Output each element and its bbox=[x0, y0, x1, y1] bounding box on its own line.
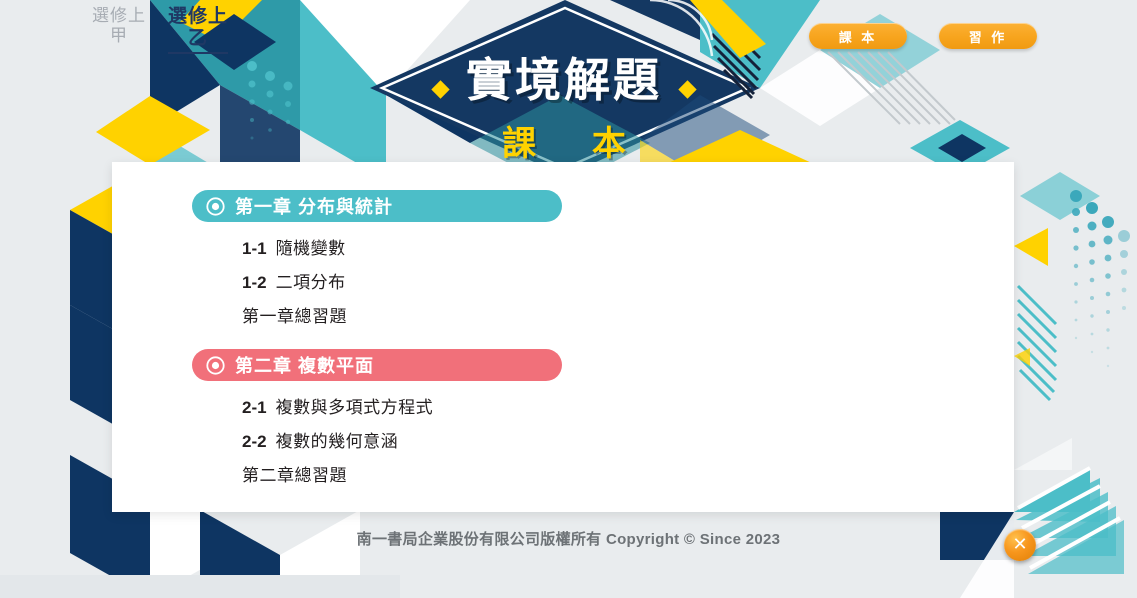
bullseye-icon bbox=[206, 197, 225, 216]
workbook-button[interactable]: 習 作 bbox=[939, 23, 1037, 49]
section-1-2[interactable]: 1-2 二項分布 bbox=[242, 268, 1014, 293]
banner: 實境解題 課 本 bbox=[376, 0, 752, 176]
textbook-button[interactable]: 課 本 bbox=[809, 23, 907, 49]
chapter-1: 第一章 分布與統計 1-1 隨機變數 1-2 二項分布 第一章總習題 bbox=[192, 190, 1014, 327]
table-of-contents: 第一章 分布與統計 1-1 隨機變數 1-2 二項分布 第一章總習題 bbox=[112, 162, 1014, 486]
top-right-button-group: 課 本 習 作 bbox=[809, 23, 1037, 49]
chapter-1-review[interactable]: 第一章總習題 bbox=[242, 302, 1014, 327]
section-1-1-number: 1-1 bbox=[242, 239, 267, 259]
chapter-2: 第二章 複數平面 2-1 複數與多項式方程式 2-2 複數的幾何意涵 第二章總習… bbox=[192, 349, 1014, 486]
chapter-1-header[interactable]: 第一章 分布與統計 bbox=[192, 190, 562, 222]
ground-strip bbox=[0, 575, 400, 598]
chapter-2-review[interactable]: 第二章總習題 bbox=[242, 461, 1014, 486]
tab-xuanxiu-shang-jia[interactable]: 選修上 甲 bbox=[92, 6, 146, 45]
section-2-2-number: 2-2 bbox=[242, 432, 267, 452]
section-2-1-number: 2-1 bbox=[242, 398, 267, 418]
chapter-2-header[interactable]: 第二章 複數平面 bbox=[192, 349, 562, 381]
section-2-1-label: 複數與多項式方程式 bbox=[276, 393, 434, 418]
course-tabs[interactable]: 選修上 甲 選修上 乙 bbox=[92, 6, 228, 54]
chapter-1-title: 第一章 分布與統計 bbox=[235, 193, 393, 219]
content-panel: 第一章 分布與統計 1-1 隨機變數 1-2 二項分布 第一章總習題 bbox=[112, 162, 1014, 512]
section-1-1-label: 隨機變數 bbox=[276, 234, 346, 259]
section-2-2[interactable]: 2-2 複數的幾何意涵 bbox=[242, 427, 1014, 452]
banner-subtitle: 課 本 bbox=[376, 116, 752, 165]
section-2-1[interactable]: 2-1 複數與多項式方程式 bbox=[242, 393, 1014, 418]
banner-title: 實境解題 bbox=[376, 44, 752, 110]
close-icon[interactable]: ✕ bbox=[1004, 529, 1036, 561]
chapter-2-title: 第二章 複數平面 bbox=[235, 352, 374, 378]
section-1-2-label: 二項分布 bbox=[276, 268, 346, 293]
chapter-2-review-label: 第二章總習題 bbox=[242, 461, 347, 486]
section-1-1[interactable]: 1-1 隨機變數 bbox=[242, 234, 1014, 259]
section-2-2-label: 複數的幾何意涵 bbox=[276, 427, 399, 452]
section-1-2-number: 1-2 bbox=[242, 273, 267, 293]
copyright-footer: 南一書局企業股份有限公司版權所有 Copyright © Since 2023 bbox=[0, 528, 1137, 549]
tab-xuanxiu-shang-yi[interactable]: 選修上 乙 bbox=[168, 6, 228, 54]
chapter-1-review-label: 第一章總習題 bbox=[242, 302, 347, 327]
bullseye-icon bbox=[206, 356, 225, 375]
